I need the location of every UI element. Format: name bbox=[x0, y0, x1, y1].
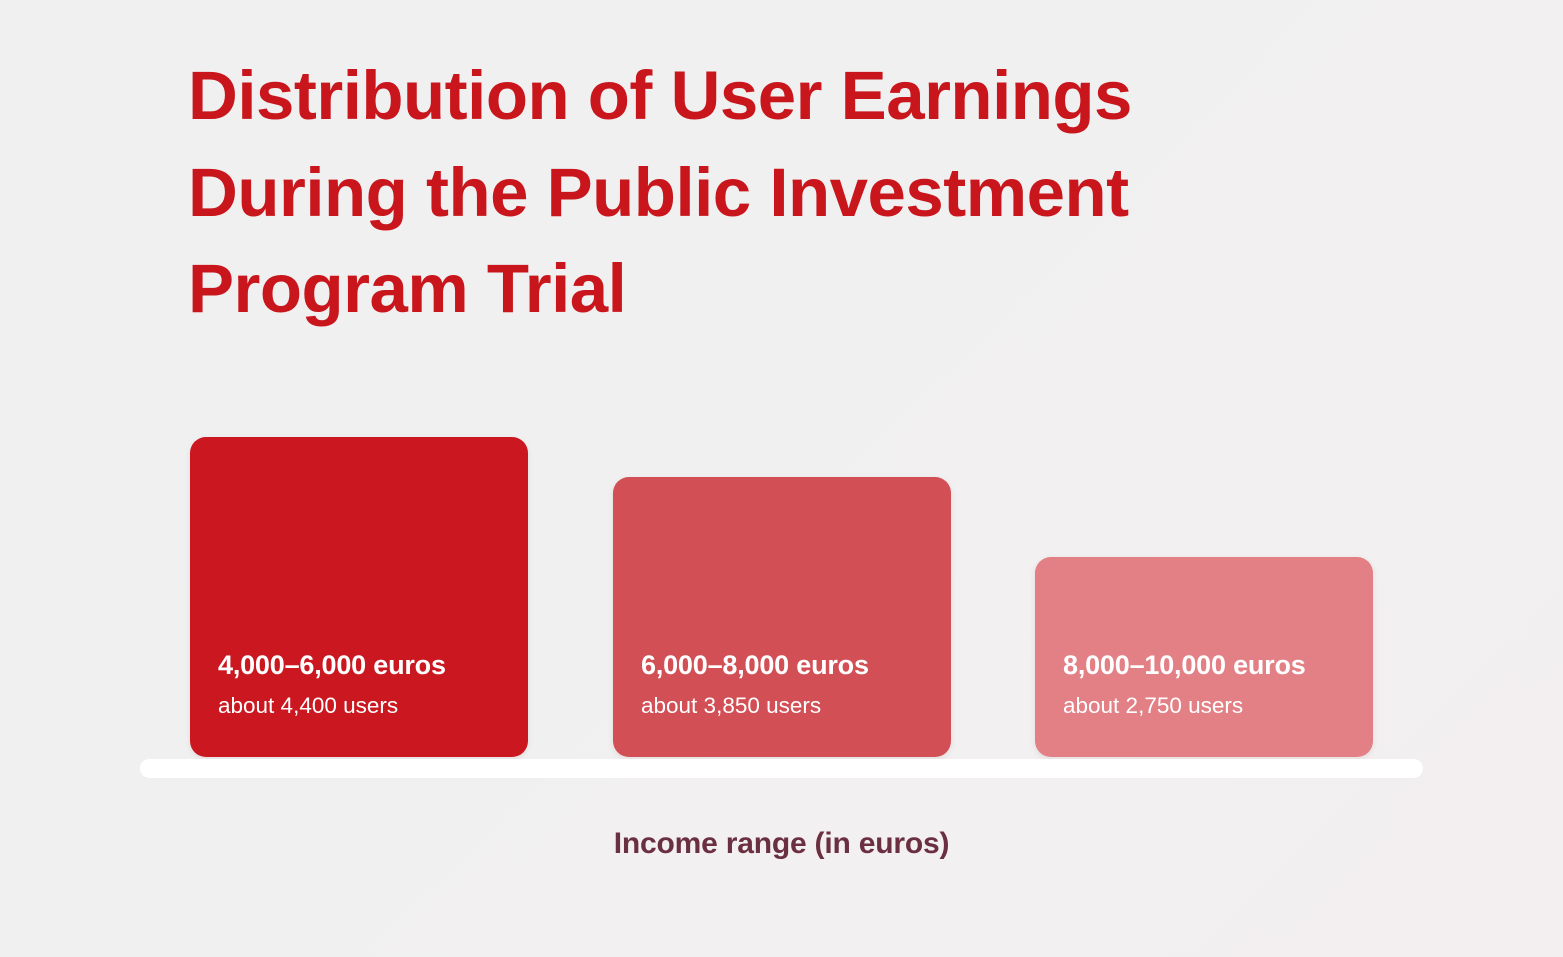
bar-category-label-2: 8,000–10,000 euros bbox=[1063, 649, 1359, 681]
bar-value-label-0: about 4,400 users bbox=[218, 692, 514, 719]
x-axis-label: Income range (in euros) bbox=[0, 827, 1563, 861]
bar-label-group-0: 4,000–6,000 euros about 4,400 users bbox=[218, 649, 514, 719]
plot-area: 4,000–6,000 euros about 4,400 users 6,00… bbox=[0, 0, 1563, 957]
axis-baseline bbox=[140, 759, 1423, 778]
bar-income-8000-10000[interactable]: 8,000–10,000 euros about 2,750 users bbox=[1035, 557, 1373, 757]
bar-label-group-2: 8,000–10,000 euros about 2,750 users bbox=[1063, 649, 1359, 719]
bar-value-label-2: about 2,750 users bbox=[1063, 692, 1359, 719]
bar-value-label-1: about 3,850 users bbox=[641, 692, 937, 719]
bar-category-label-1: 6,000–8,000 euros bbox=[641, 649, 937, 681]
bar-income-6000-8000[interactable]: 6,000–8,000 euros about 3,850 users bbox=[613, 477, 951, 757]
bar-label-group-1: 6,000–8,000 euros about 3,850 users bbox=[641, 649, 937, 719]
bar-category-label-0: 4,000–6,000 euros bbox=[218, 649, 514, 681]
bar-income-4000-6000[interactable]: 4,000–6,000 euros about 4,400 users bbox=[190, 437, 528, 757]
chart-canvas: Distribution of User Earnings During the… bbox=[0, 0, 1563, 957]
